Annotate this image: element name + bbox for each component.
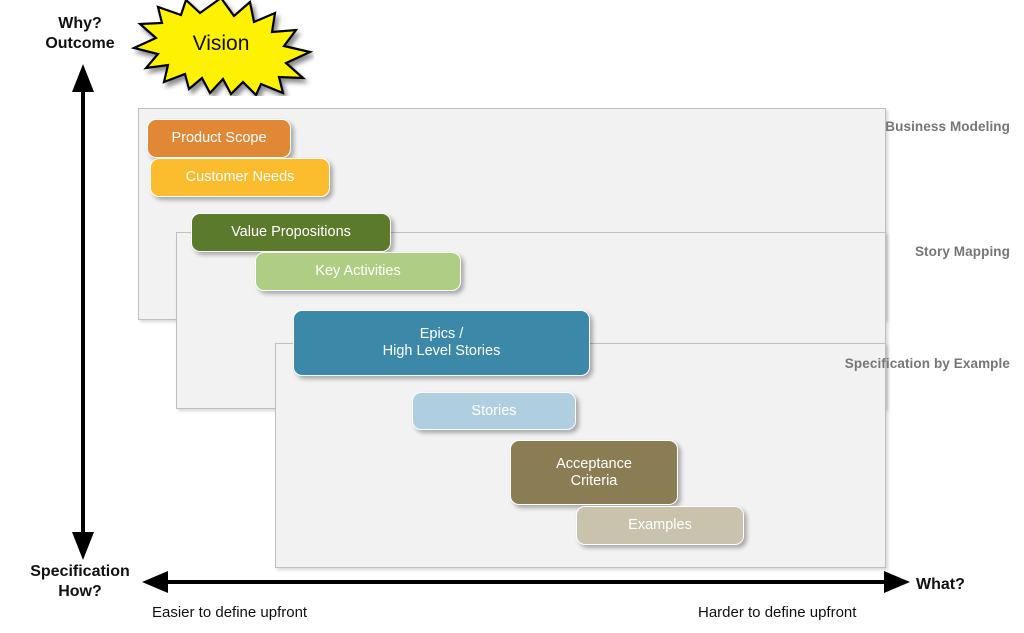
artifact-box-value-propositions[interactable]: Value Propositions xyxy=(191,213,391,252)
horizontal-axis-arrow xyxy=(140,568,912,596)
vertical-axis-arrow xyxy=(62,62,106,562)
artifact-box-product-scope[interactable]: Product Scope xyxy=(147,119,291,158)
artifact-box-examples[interactable]: Examples xyxy=(576,506,744,545)
axis-sublabel-easier: Easier to define upfront xyxy=(152,604,307,621)
artifact-box-acceptance-criteria[interactable]: Acceptance Criteria xyxy=(510,440,678,505)
panel-title-business-modeling: Business Modeling xyxy=(885,119,1010,134)
artifact-box-epics-high-level-stories[interactable]: Epics / High Level Stories xyxy=(293,310,590,376)
panel-title-story-mapping: Story Mapping xyxy=(915,244,1010,259)
artifact-box-customer-needs[interactable]: Customer Needs xyxy=(150,158,330,197)
panel-title-specification-by-example: Specification by Example xyxy=(845,356,1010,371)
diagram-canvas: Why? Outcome Specification How? What? Ea… xyxy=(0,0,1024,633)
artifact-box-key-activities[interactable]: Key Activities xyxy=(255,252,461,291)
vision-label: Vision xyxy=(128,0,314,96)
axis-label-what: What? xyxy=(916,575,1016,595)
axis-sublabel-harder: Harder to define upfront xyxy=(698,604,856,621)
artifact-box-stories[interactable]: Stories xyxy=(412,392,576,430)
axis-label-specification-how: Specification How? xyxy=(4,562,156,602)
